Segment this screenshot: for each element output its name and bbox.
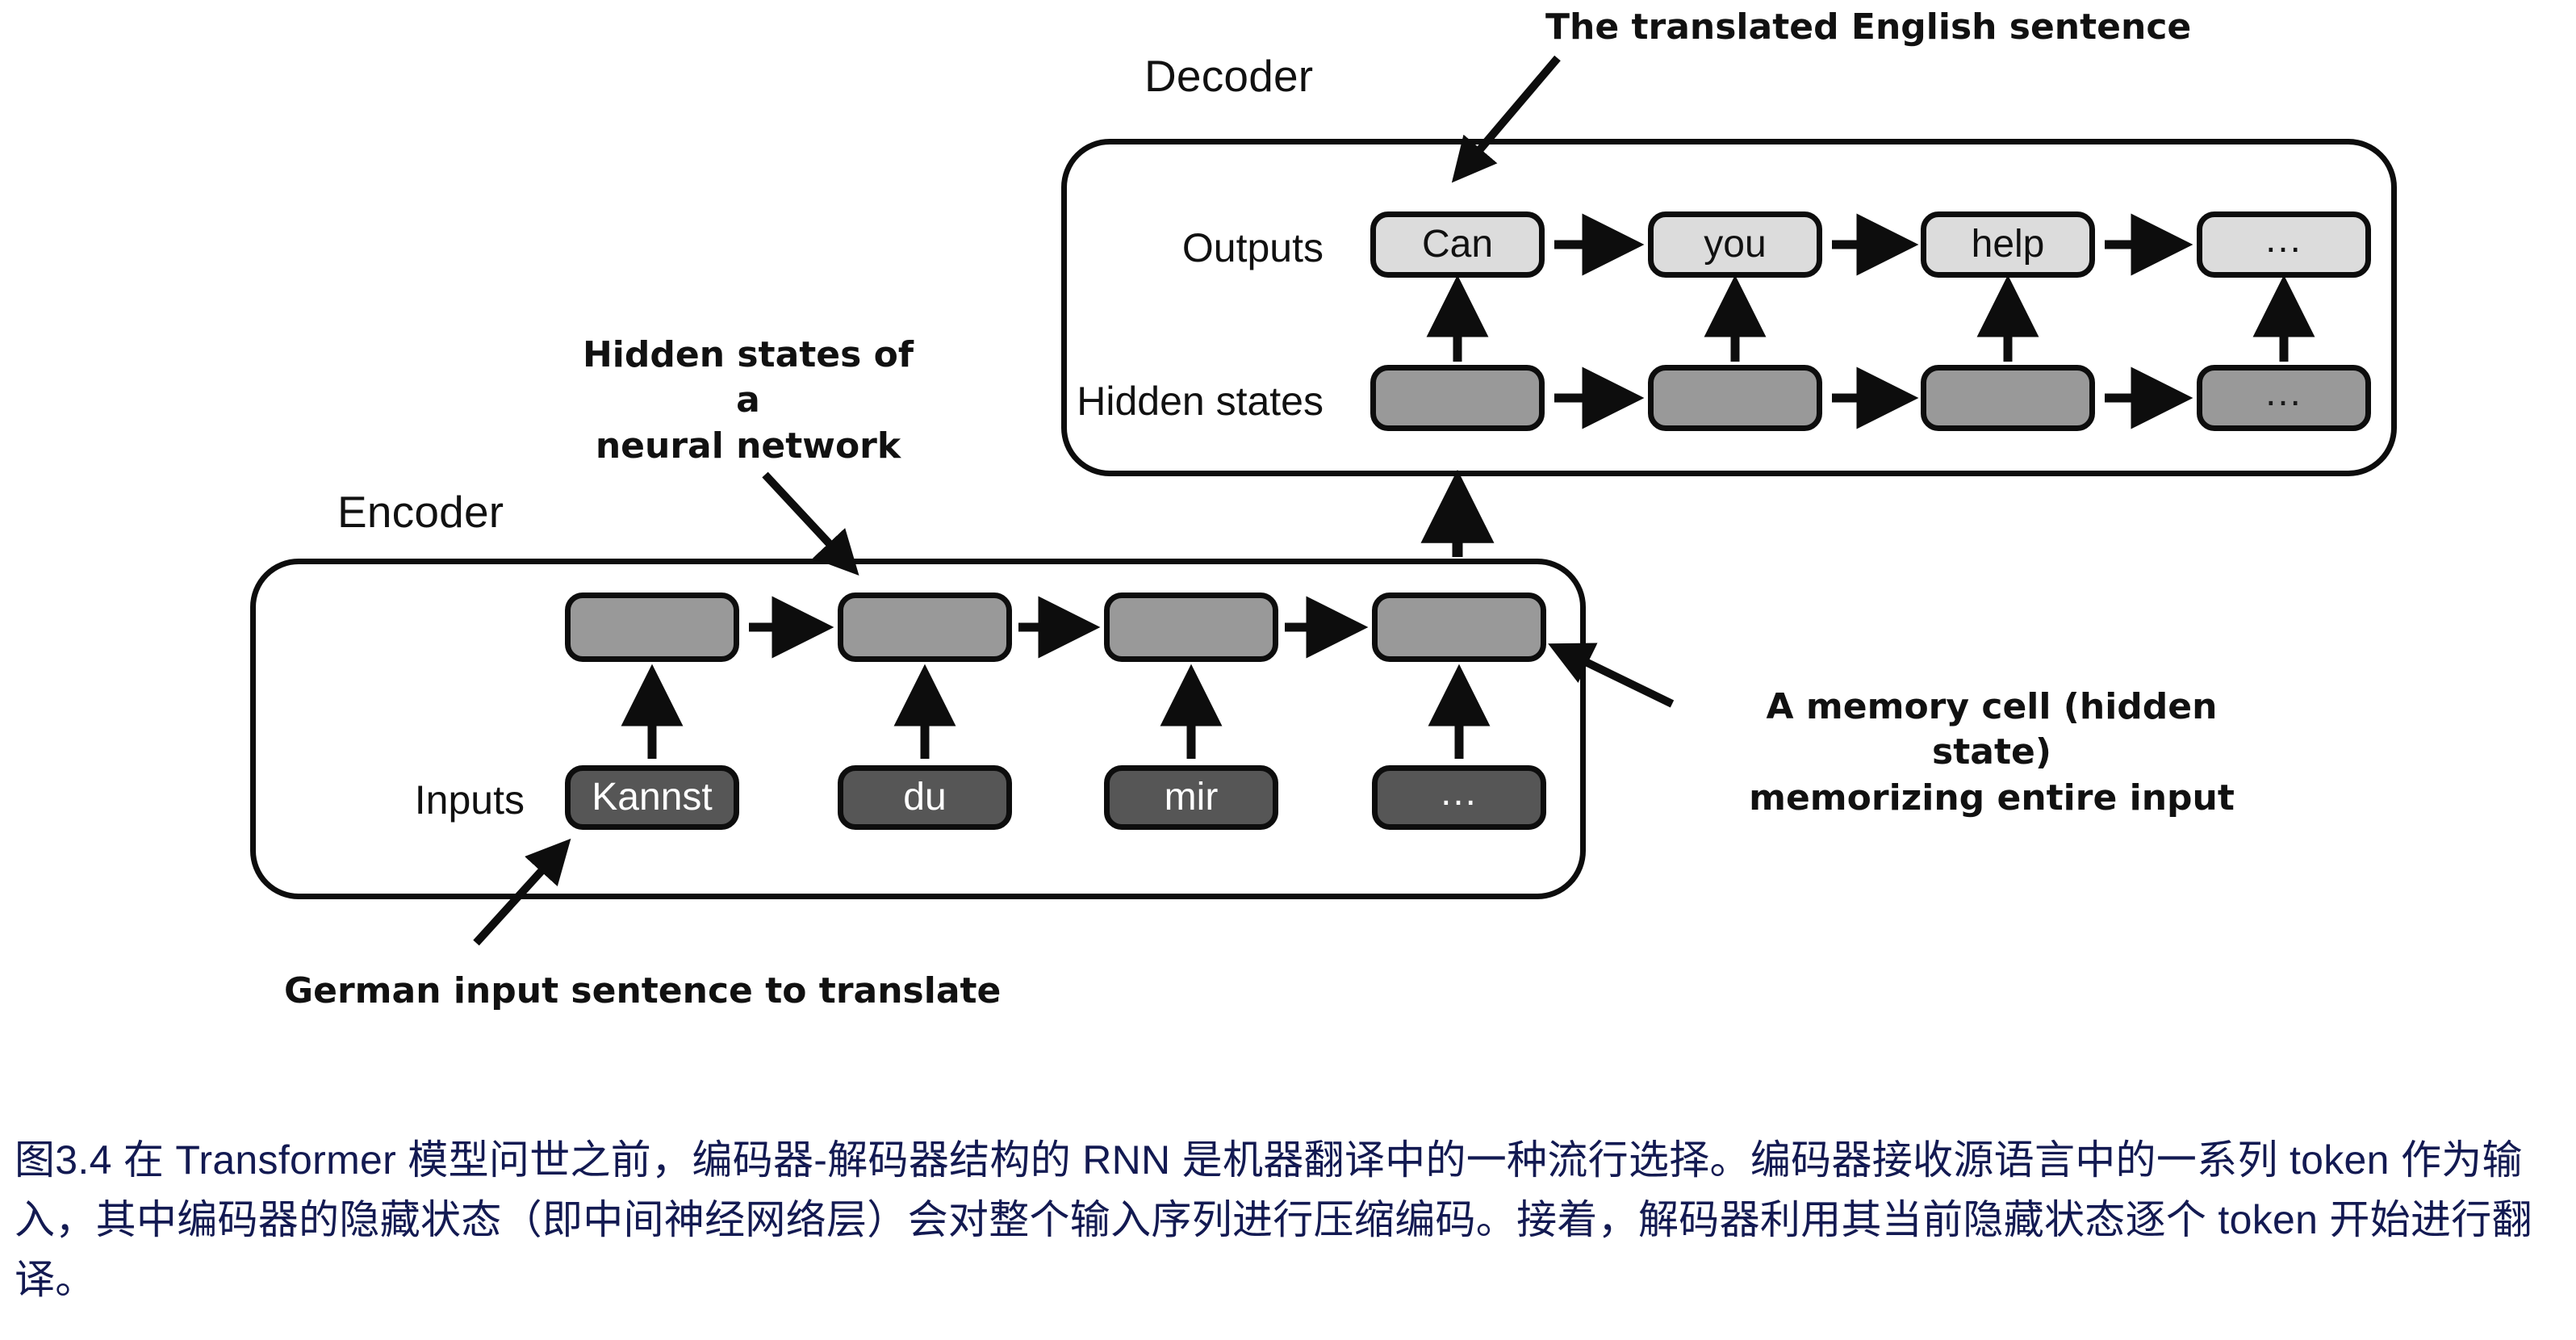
encoder-input-cell-text: du [903, 778, 946, 817]
decoder-output-cell: Can [1370, 211, 1545, 278]
encoder-hidden-cell [1104, 593, 1278, 662]
encoder-hidden-cell [565, 593, 739, 662]
encoder-hidden-cell [1372, 593, 1546, 662]
callout-hidden-states-of-neural-network: Hidden states of a neural network [575, 333, 922, 469]
hidden-states-leader [765, 475, 853, 569]
decoder-hidden-cell-text: … [2264, 374, 2304, 412]
decoder-hidden-cell [1648, 365, 1822, 431]
encoder-input-cell: Kannst [565, 765, 739, 830]
decoder-output-cell-text: Can [1422, 225, 1493, 264]
decoder-output-cell: … [2197, 211, 2371, 278]
encoder-title: Encoder [337, 486, 504, 538]
encoder-input-cell: mir [1104, 765, 1278, 830]
decoder-title: Decoder [1144, 50, 1313, 102]
decoder-hidden-cell [1921, 365, 2095, 431]
decoder-hidden-cell: … [2197, 365, 2371, 431]
callout-german-input-sentence: German input sentence to translate [284, 969, 1001, 1014]
decoder-output-cell: you [1648, 211, 1822, 278]
encoder-input-cell: du [838, 765, 1012, 830]
encoder-input-cell: … [1372, 765, 1546, 830]
encoder-hidden-cell [838, 593, 1012, 662]
encoder-input-cell-text: … [1439, 773, 1479, 812]
callout-translated-sentence: The translated English sentence [1545, 5, 2191, 50]
rnn-encoder-decoder-figure: Decoder Outputs Hidden states Can you he… [0, 0, 2576, 1082]
decoder-hidden-states-label: Hidden states [1057, 378, 1324, 425]
encoder-input-cell-text: mir [1165, 778, 1219, 817]
decoder-output-cell: help [1921, 211, 2095, 278]
decoder-outputs-label: Outputs [1106, 224, 1324, 271]
encoder-input-cell-text: Kannst [592, 778, 712, 817]
decoder-output-cell-text: help [1972, 225, 2045, 264]
encoder-inputs-label: Inputs [339, 777, 525, 823]
decoder-output-cell-text: … [2264, 220, 2304, 259]
callout-memory-cell: A memory cell (hidden state) memorizing … [1709, 685, 2274, 821]
figure-caption: 图3.4 在 Transformer 模型问世之前，编码器-解码器结构的 RNN… [15, 1130, 2565, 1309]
decoder-output-cell-text: you [1704, 225, 1766, 264]
decoder-hidden-cell [1370, 365, 1545, 431]
